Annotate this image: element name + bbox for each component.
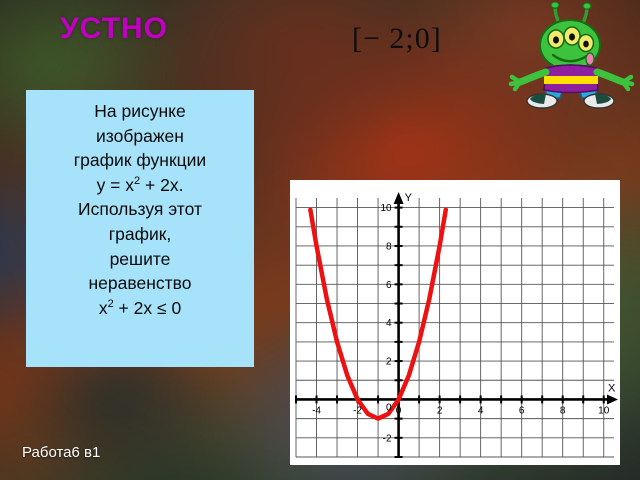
question-line-7: решите: [32, 247, 248, 272]
question-line-1: На рисунке: [32, 99, 248, 124]
y-tick-label: 6: [386, 280, 392, 291]
alien-mascot: [498, 2, 638, 110]
x-tick-label: -2: [353, 405, 362, 416]
x-tick-label: 6: [519, 405, 525, 416]
x-tick-label: 0: [396, 405, 402, 416]
y-tick-labels: -22468100: [380, 203, 392, 444]
slide-canvas: УСТНО [− 2;0]: [0, 0, 640, 480]
x-tick-label: 4: [478, 405, 484, 416]
y-tick-label: 10: [380, 203, 392, 214]
inequality-base: x: [99, 298, 108, 318]
question-line-6: график,: [32, 222, 248, 247]
x-axis-label: X: [608, 382, 616, 394]
slide-footer: Работа6 в1: [22, 444, 100, 461]
y-tick-label: 8: [386, 241, 392, 252]
y-axis-label: Y: [405, 192, 413, 204]
grid-lines: [296, 198, 614, 457]
origin-label: 0: [386, 402, 392, 413]
question-line-8: неравенство: [32, 271, 248, 296]
x-tick-label: -4: [312, 405, 321, 416]
x-tick-label: 10: [598, 405, 610, 416]
question-line-9: x2 + 2x ≤ 0: [32, 296, 248, 321]
graph-panel: -4-20246810 -22468100 X Y: [290, 180, 620, 465]
question-textbox: На рисунке изображен график функции y = …: [26, 90, 254, 367]
question-line-4: y = x2 + 2x.: [32, 173, 248, 198]
formula-base: y = x: [97, 175, 134, 195]
x-tick-label: 8: [560, 405, 566, 416]
x-tick-labels: -4-20246810: [312, 405, 610, 416]
function-graph: -4-20246810 -22468100 X Y: [290, 180, 620, 465]
axis-ticks: [296, 208, 604, 457]
question-line-5: Используя этот: [32, 197, 248, 222]
axes: [296, 192, 618, 457]
interval-answer: [− 2;0]: [352, 22, 442, 56]
formula-tail: + 2x.: [140, 175, 183, 195]
inequality-tail: + 2x ≤ 0: [114, 298, 182, 318]
y-tick-label: -2: [383, 433, 392, 444]
alien-icon: [498, 2, 638, 110]
y-tick-label: 4: [386, 318, 392, 329]
question-line-3: график функции: [32, 148, 248, 173]
y-tick-label: 2: [386, 357, 392, 368]
x-tick-label: 2: [437, 405, 443, 416]
question-line-2: изображен: [32, 124, 248, 149]
page-title: УСТНО: [60, 12, 168, 46]
